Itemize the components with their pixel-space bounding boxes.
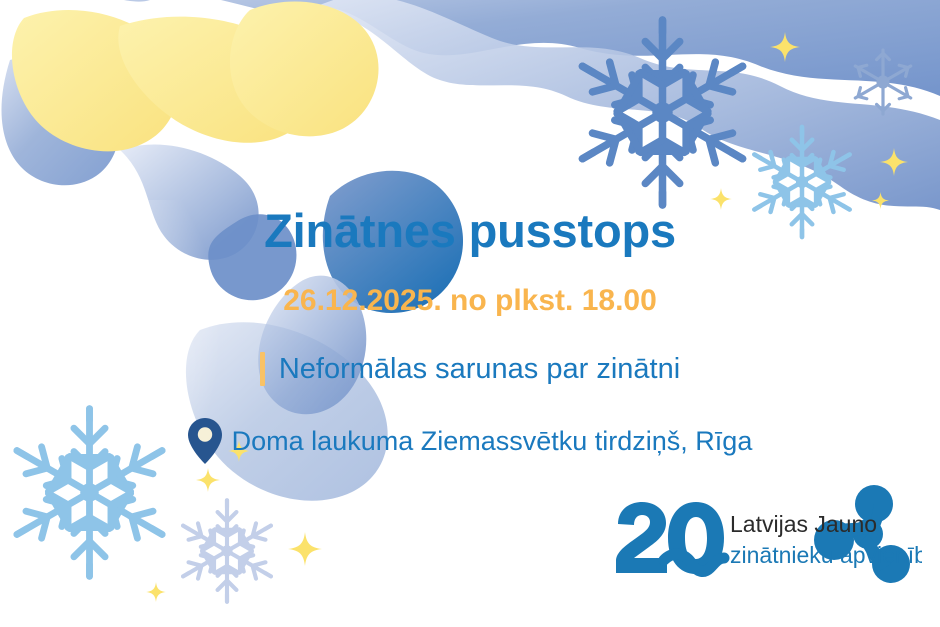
poster-content: Zinātnes pusstops 26.12.2025. no plkst. … (0, 0, 940, 627)
logo-line2: zinātnieku apvienība (730, 542, 922, 568)
page-title: Zinātnes pusstops (0, 206, 940, 255)
anniversary-20-mark (616, 502, 724, 574)
location-row: Doma laukuma Ziemassvētku tirdziņš, Rīga (0, 418, 940, 464)
location-pin-icon (188, 418, 222, 464)
poster-canvas: Zinātnes pusstops 26.12.2025. no plkst. … (0, 0, 940, 627)
organization-logo[interactable]: Latvijas Jauno zinātnieku apvienība (612, 484, 922, 592)
accent-bar (260, 352, 265, 386)
event-date: 26.12.2025. no plkst. 18.00 (0, 284, 940, 317)
subtitle-row: Neformālas sarunas par zinātni (0, 352, 940, 386)
logo-line1: Latvijas Jauno (730, 511, 877, 537)
event-location: Doma laukuma Ziemassvētku tirdziņš, Rīga (232, 426, 753, 457)
event-subtitle: Neformālas sarunas par zinātni (279, 353, 680, 386)
